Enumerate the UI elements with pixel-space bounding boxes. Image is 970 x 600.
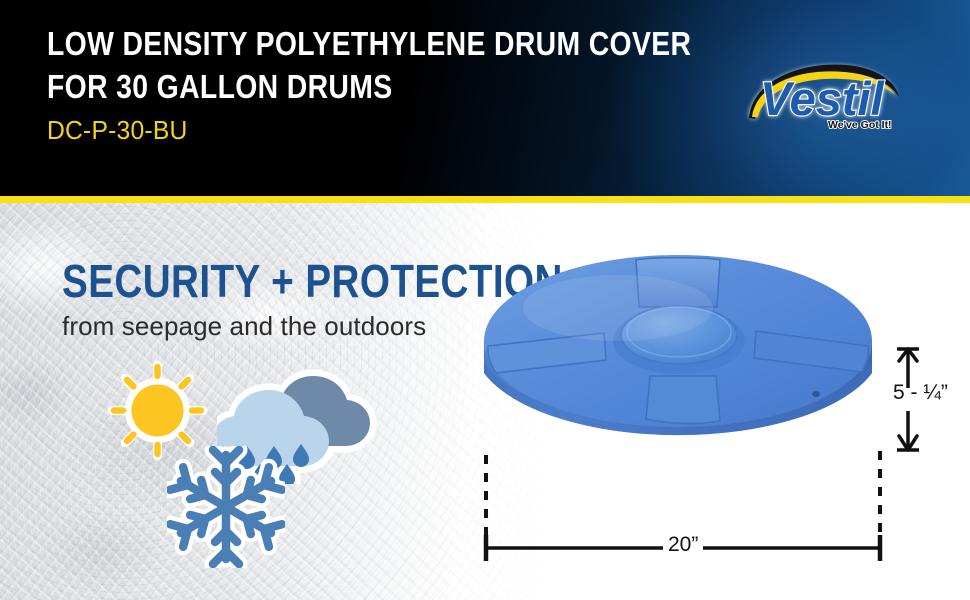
height-dimension-label: 5 - ¼” <box>893 381 948 405</box>
sun-disc <box>132 385 184 437</box>
drum-cover-sheen <box>523 275 713 341</box>
weather-icon-group <box>105 358 405 573</box>
logo-wordmark: Vestil <box>760 72 885 125</box>
product-title-line-2: FOR 30 GALLON DRUMS <box>47 65 632 108</box>
snowflake-arms <box>170 450 282 564</box>
drum-cover-illustration <box>468 213 888 488</box>
banner-header: LOW DENSITY POLYETHYLENE DRUM COVER FOR … <box>0 0 970 196</box>
product-image <box>468 213 888 488</box>
width-dimension-label: 20” <box>663 533 703 557</box>
product-banner: LOW DENSITY POLYETHYLENE DRUM COVER FOR … <box>0 0 970 600</box>
drum-cover-vent-hole <box>812 391 820 397</box>
header-title-block: LOW DENSITY POLYETHYLENE DRUM COVER FOR … <box>47 22 727 147</box>
height-arrow-up <box>899 349 917 361</box>
banner-body: SECURITY + PROTECTION from seepage and t… <box>0 203 970 600</box>
product-sku: DC-P-30-BU <box>47 113 693 147</box>
feature-subhead: from seepage and the outdoors <box>62 311 426 341</box>
snowflake-icon <box>167 446 285 568</box>
logo-tagline: We've Got It! <box>828 119 892 131</box>
vestil-logo-graphic: Vestil Vestil We've Got It! <box>740 55 905 140</box>
vestil-logo: Vestil Vestil We've Got It! <box>740 55 905 140</box>
height-arrow-down <box>899 436 917 450</box>
product-title-line-1: LOW DENSITY POLYETHYLENE DRUM COVER <box>47 22 632 65</box>
accent-divider <box>0 196 970 203</box>
